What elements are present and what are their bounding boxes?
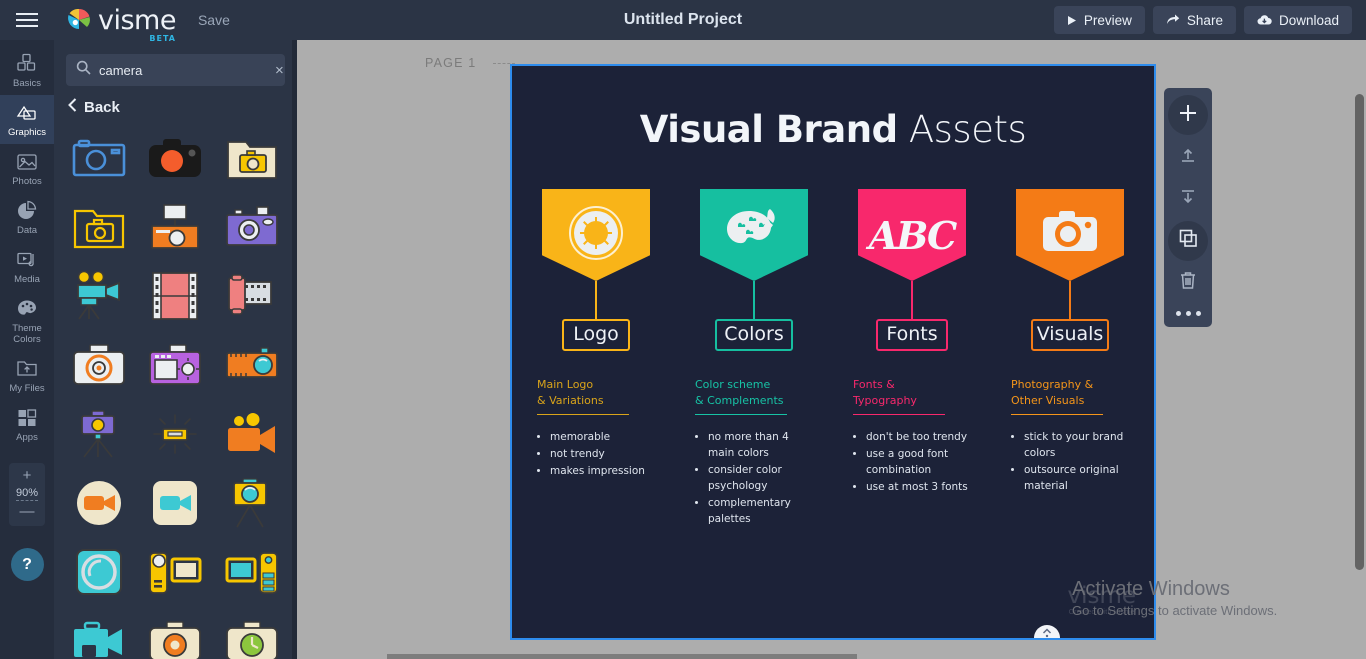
upload-folder-icon — [16, 358, 38, 380]
subtitle-visuals-line1: Photography & — [1011, 377, 1103, 393]
hamburger-menu-icon[interactable] — [0, 0, 54, 40]
vertical-resize-icon — [1041, 628, 1053, 641]
slide-column-visuals: Visuals Photography & Other Visuals stic… — [1011, 189, 1129, 528]
stem-logo — [595, 281, 597, 319]
visme-watermark-caption: Created with Visme — [1067, 609, 1136, 616]
graphic-video-camera-circle-orange[interactable] — [62, 469, 136, 536]
sidebar-label-theme-colors: ThemeColors — [12, 323, 42, 345]
list-item: consider color psychology — [708, 462, 813, 494]
sidebar-item-basics[interactable]: Basics — [0, 46, 54, 95]
pie-chart-icon — [16, 200, 38, 222]
graphic-camera-shutter-green[interactable] — [215, 607, 289, 659]
plus-icon — [1178, 103, 1198, 128]
stem-colors — [753, 281, 755, 319]
bullets-logo: memorable not trendy makes impression — [537, 429, 655, 479]
beta-badge: BETA — [149, 35, 176, 43]
photo-icon — [16, 151, 38, 173]
visme-editor-window: visme BETA Save Untitled Project Preview… — [0, 0, 1366, 659]
list-item: stick to your brand colors — [1024, 429, 1129, 461]
zoom-in-button[interactable]: + — [23, 470, 32, 482]
arrow-up-bar-icon — [1179, 146, 1197, 169]
graphic-camera-classic-white[interactable] — [62, 331, 136, 398]
visme-logo: visme BETA — [66, 7, 176, 34]
sidebar-item-data[interactable]: Data — [0, 193, 54, 242]
abc-letters-icon: ABC — [869, 213, 956, 258]
graphic-light-flash-yellow[interactable] — [138, 400, 212, 467]
canvas-workspace[interactable]: PAGE 1 Visual Brand Assets — [297, 40, 1366, 659]
sidebar-label-basics: Basics — [13, 78, 41, 89]
sidebar-label-photos: Photos — [12, 176, 42, 187]
download-button[interactable]: Download — [1244, 6, 1352, 34]
move-up-button[interactable] — [1168, 137, 1208, 177]
slide-canvas[interactable]: Visual Brand Assets — [510, 64, 1156, 640]
graphics-panel: × Back — [54, 40, 297, 659]
slide-title-light: Assets — [898, 108, 1027, 151]
preview-button[interactable]: Preview — [1054, 6, 1145, 34]
subtitle-colors-line1: Color scheme — [695, 377, 787, 393]
subtitle-fonts-line2: Typography — [853, 393, 945, 409]
search-input[interactable] — [99, 63, 275, 78]
sidebar-item-graphics[interactable]: Graphics — [0, 95, 54, 144]
graphic-camera-retro-purple[interactable] — [215, 193, 289, 260]
grid-squares-icon — [16, 407, 38, 429]
graphic-camera-dslr-black[interactable] — [138, 124, 212, 191]
slide-column-colors: Colors Color scheme & Complements no mor… — [695, 189, 813, 528]
graphic-camera-panorama-orange[interactable] — [215, 331, 289, 398]
horizontal-scrollbar-thumb[interactable] — [387, 654, 857, 659]
preview-label: Preview — [1084, 13, 1132, 28]
graphic-camera-shutter-orange[interactable] — [138, 607, 212, 659]
subtitle-colors: Color scheme & Complements — [695, 377, 787, 415]
list-item: no more than 4 main colors — [708, 429, 813, 461]
delete-button[interactable] — [1168, 263, 1208, 303]
graphic-folder-camera-yellow[interactable] — [62, 193, 136, 260]
sidebar-item-my-files[interactable]: My Files — [0, 351, 54, 400]
download-label: Download — [1279, 13, 1339, 28]
trash-icon — [1179, 271, 1197, 295]
slide-column-logo: Logo Main Logo & Variations memorable no… — [537, 189, 655, 528]
duplicate-button[interactable] — [1168, 221, 1208, 261]
bullets-fonts: don't be too trendy use a good font comb… — [853, 429, 971, 495]
copy-icon — [1179, 229, 1198, 253]
graphic-camera-compact-purple[interactable] — [138, 331, 212, 398]
shapes-icon — [16, 102, 38, 124]
list-item: memorable — [550, 429, 655, 445]
help-button[interactable]: ? — [11, 548, 44, 581]
graphic-camera-stand-purple[interactable] — [62, 400, 136, 467]
graphic-camera-outline-blue[interactable] — [62, 124, 136, 191]
graphics-results-grid — [54, 124, 297, 659]
palette-icon — [16, 298, 38, 320]
vertical-scrollbar[interactable] — [1355, 44, 1364, 655]
shield-fonts: ABC — [858, 189, 966, 281]
subtitle-logo-line2: & Variations — [537, 393, 629, 409]
graphic-film-roll-red[interactable] — [215, 262, 289, 329]
tag-fonts: Fonts — [876, 319, 948, 351]
list-item: not trendy — [550, 446, 655, 462]
subtitle-visuals-line2: Other Visuals — [1011, 393, 1103, 409]
back-label: Back — [84, 99, 120, 116]
subtitle-fonts: Fonts & Typography — [853, 377, 945, 415]
subtitle-fonts-line1: Fonts & — [853, 377, 945, 393]
subtitle-logo-line1: Main Logo — [537, 377, 629, 393]
slide-title: Visual Brand Assets — [512, 108, 1154, 151]
zoom-control: + 90% — — [9, 463, 45, 526]
subtitle-colors-line2: & Complements — [695, 393, 787, 409]
shield-visuals — [1016, 189, 1124, 281]
share-arrow-icon — [1166, 14, 1180, 26]
list-item: use a good font combination — [866, 446, 971, 478]
graphic-camcorder-frame-yellow[interactable] — [138, 538, 212, 605]
sidebar-label-my-files: My Files — [9, 383, 44, 394]
list-item: use at most 3 fonts — [866, 479, 971, 495]
search-area: × — [54, 40, 297, 86]
horizontal-scrollbar[interactable] — [297, 654, 1366, 659]
zoom-out-button[interactable]: — — [20, 506, 35, 518]
list-item: don't be too trendy — [866, 429, 971, 445]
slide-columns: Logo Main Logo & Variations memorable no… — [512, 189, 1154, 528]
sidebar-label-apps: Apps — [16, 432, 38, 443]
top-actions: Preview Share Download — [1054, 6, 1366, 34]
ellipsis-icon — [1176, 311, 1181, 316]
play-icon — [1067, 15, 1077, 26]
arrow-down-bar-icon — [1179, 188, 1197, 211]
camera-icon — [1040, 208, 1100, 263]
back-button[interactable]: Back — [54, 86, 297, 124]
zoom-level-value[interactable]: 90% — [16, 487, 38, 501]
left-rail: Basics Graphics Photos — [0, 40, 54, 659]
sun-badge-icon — [566, 203, 626, 268]
shield-logo — [542, 189, 650, 281]
graphic-video-camera-tripod-teal[interactable] — [62, 262, 136, 329]
share-button[interactable]: Share — [1153, 6, 1236, 34]
visme-watermark-brand: visme — [1067, 583, 1136, 609]
visme-mark-icon — [66, 9, 92, 31]
subtitle-visuals: Photography & Other Visuals — [1011, 377, 1103, 415]
bullets-colors: no more than 4 main colors consider colo… — [695, 429, 813, 527]
chevron-left-icon — [68, 98, 77, 116]
shield-colors — [700, 189, 808, 281]
graphic-video-case-teal[interactable] — [62, 607, 136, 659]
sidebar-item-photos[interactable]: Photos — [0, 144, 54, 193]
sidebar-item-theme-colors[interactable]: ThemeColors — [0, 291, 54, 351]
list-item: makes impression — [550, 463, 655, 479]
slide-tools-toolbar — [1164, 88, 1212, 327]
slide-column-fonts: ABC Fonts Fonts & Typography don't be to… — [853, 189, 971, 528]
search-box[interactable]: × — [66, 54, 285, 86]
sidebar-label-graphics: Graphics — [8, 127, 46, 138]
graphic-film-strip-red[interactable] — [138, 262, 212, 329]
more-options-button[interactable] — [1176, 311, 1201, 316]
panel-scrollbar[interactable] — [292, 40, 297, 659]
graphic-lens-teal-square[interactable] — [62, 538, 136, 605]
page-label: PAGE 1 — [425, 56, 476, 70]
stem-visuals — [1069, 281, 1071, 319]
tag-logo: Logo — [562, 319, 630, 351]
sidebar-label-data: Data — [17, 225, 37, 236]
search-icon — [76, 60, 91, 80]
visme-watermark: visme Created with Visme — [1067, 583, 1136, 616]
graphic-camera-tripod-orange[interactable] — [138, 193, 212, 260]
bullets-visuals: stick to your brand colors outsource ori… — [1011, 429, 1129, 494]
move-down-button[interactable] — [1168, 179, 1208, 219]
graphic-video-camera-orange[interactable] — [215, 400, 289, 467]
graphic-video-camera-square-teal[interactable] — [138, 469, 212, 536]
media-play-icon — [16, 249, 38, 271]
blocks-icon — [16, 53, 38, 75]
stem-fonts — [911, 281, 913, 319]
vertical-scrollbar-thumb[interactable] — [1355, 94, 1364, 570]
palette-brush-icon — [723, 205, 785, 266]
tag-visuals: Visuals — [1031, 319, 1109, 351]
sidebar-item-media[interactable]: Media — [0, 242, 54, 291]
sidebar-item-apps[interactable]: Apps — [0, 400, 54, 449]
top-bar: visme BETA Save Untitled Project Preview… — [0, 0, 1366, 40]
graphic-frame-camcorder-yellow[interactable] — [215, 538, 289, 605]
cloud-download-icon — [1257, 14, 1272, 26]
add-slide-button[interactable] — [1168, 95, 1208, 135]
share-label: Share — [1187, 13, 1223, 28]
sidebar-label-media: Media — [14, 274, 40, 285]
subtitle-logo: Main Logo & Variations — [537, 377, 629, 415]
tag-colors: Colors — [715, 319, 793, 351]
list-item: complementary palettes — [708, 495, 813, 527]
graphic-folder-camera-cream[interactable] — [215, 124, 289, 191]
list-item: outsource original material — [1024, 462, 1129, 494]
slide-resize-handle[interactable] — [1034, 625, 1060, 640]
graphic-camera-tripod-yellow[interactable] — [215, 469, 289, 536]
clear-search-icon[interactable]: × — [275, 63, 284, 78]
save-button[interactable]: Save — [198, 12, 230, 28]
slide-title-bold: Visual Brand — [640, 108, 898, 151]
visme-wordmark: visme BETA — [98, 7, 176, 34]
